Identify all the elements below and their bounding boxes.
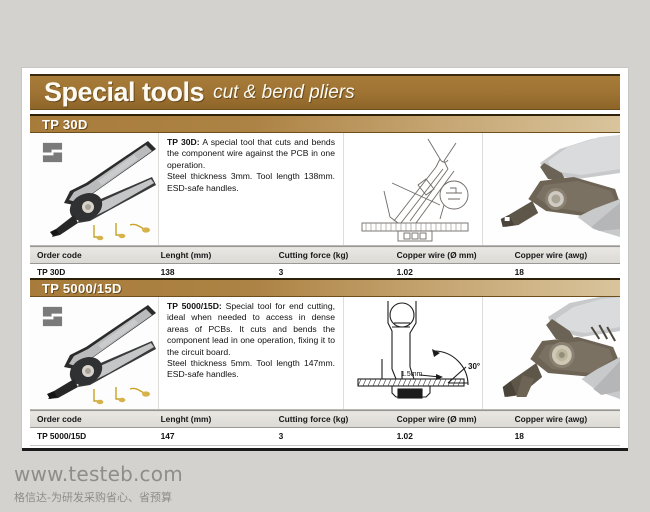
- brand-logo-icon: [41, 305, 64, 328]
- watermark-tagline: 格信达-为研发采购省心、省预算: [14, 489, 183, 505]
- product-description-column: TP 30D: A special tool that cuts and ben…: [159, 133, 344, 245]
- table-row: TP 5000/15D 147 3 1.02 18: [30, 428, 620, 446]
- banner-title: Special tools: [44, 79, 204, 106]
- catalog-page: Special tools cut & bend pliers TP 30D: [22, 68, 628, 448]
- col-order-code: Order code: [30, 247, 154, 264]
- product-code-label: TP 5000/15D: [42, 281, 122, 296]
- product-photo-right: [483, 297, 620, 409]
- col-length: Lenght (mm): [154, 411, 272, 428]
- product-description: TP 5000/15D: Special tool for end cuttin…: [167, 301, 335, 381]
- product-section-tp30d: TP 30D: [30, 114, 620, 282]
- watermark: www.testeb.com 格信达-为研发采购省心、省预算: [14, 462, 183, 505]
- col-copper-wire-mm: Copper wire (Ø mm): [390, 411, 508, 428]
- product-photo-left: [30, 297, 159, 409]
- product-spec-table: Order code Lenght (mm) Cutting force (kg…: [30, 410, 620, 446]
- diagram-label-lead-length: 1.5mm: [401, 371, 423, 378]
- col-cutting-force: Cutting force (kg): [272, 247, 390, 264]
- col-copper-wire-awg: Copper wire (awg): [508, 411, 620, 428]
- col-copper-wire-mm: Copper wire (Ø mm): [390, 247, 508, 264]
- table-header-row: Order code Lenght (mm) Cutting force (kg…: [30, 411, 620, 428]
- cell-cutting-force: 3: [272, 428, 390, 446]
- cell-copper-wire-mm: 1.02: [390, 428, 508, 446]
- description-lead: TP 5000/15D:: [167, 301, 222, 311]
- product-section-tp5000-15d: TP 5000/15D: [30, 278, 620, 446]
- product-media-row: TP 5000/15D: Special tool for end cuttin…: [30, 297, 620, 410]
- product-photo-left: [30, 133, 159, 245]
- product-header-bar: TP 5000/15D: [30, 278, 620, 297]
- col-cutting-force: Cutting force (kg): [272, 411, 390, 428]
- brand-logo-icon: [41, 141, 64, 164]
- page-bottom-rule: [22, 448, 628, 451]
- cell-order-code: TP 5000/15D: [30, 428, 154, 446]
- description-spec-line: Steel thickness 5mm. Tool length 147mm.: [167, 358, 335, 369]
- banner-subtitle: cut & bend pliers: [213, 83, 355, 102]
- description-handles-line: ESD-safe handles.: [167, 183, 335, 194]
- pliers-jaw-closeup-illustration: [483, 133, 620, 245]
- col-length: Lenght (mm): [154, 247, 272, 264]
- col-order-code: Order code: [30, 411, 154, 428]
- diagram-label-bend-angle: 30°: [468, 362, 480, 371]
- product-description: TP 30D: A special tool that cuts and ben…: [167, 137, 335, 194]
- cell-length: 147: [154, 428, 272, 446]
- product-spec-table: Order code Lenght (mm) Cutting force (kg…: [30, 246, 620, 282]
- page-banner: Special tools cut & bend pliers: [30, 74, 620, 110]
- lead-bend-angle-diagram: 1.5mm 30°: [344, 297, 482, 409]
- product-description-column: TP 5000/15D: Special tool for end cuttin…: [159, 297, 344, 409]
- pcb-cut-diagram: [344, 133, 482, 245]
- product-technical-diagram: 1.5mm 30°: [344, 297, 483, 409]
- description-lead: TP 30D:: [167, 137, 200, 147]
- col-copper-wire-awg: Copper wire (awg): [508, 247, 620, 264]
- product-photo-right: [483, 133, 620, 245]
- product-media-row: TP 30D: A special tool that cuts and ben…: [30, 133, 620, 246]
- product-header-bar: TP 30D: [30, 114, 620, 133]
- watermark-url: www.testeb.com: [14, 462, 183, 486]
- description-spec-line: Steel thickness 3mm. Tool length 138mm.: [167, 171, 335, 182]
- table-header-row: Order code Lenght (mm) Cutting force (kg…: [30, 247, 620, 264]
- end-cutting-pliers-closeup-illustration: [483, 297, 620, 409]
- cell-copper-wire-awg: 18: [508, 428, 620, 446]
- product-code-label: TP 30D: [42, 117, 88, 132]
- description-handles-line: ESD-safe handles.: [167, 369, 335, 380]
- product-technical-diagram: [344, 133, 483, 245]
